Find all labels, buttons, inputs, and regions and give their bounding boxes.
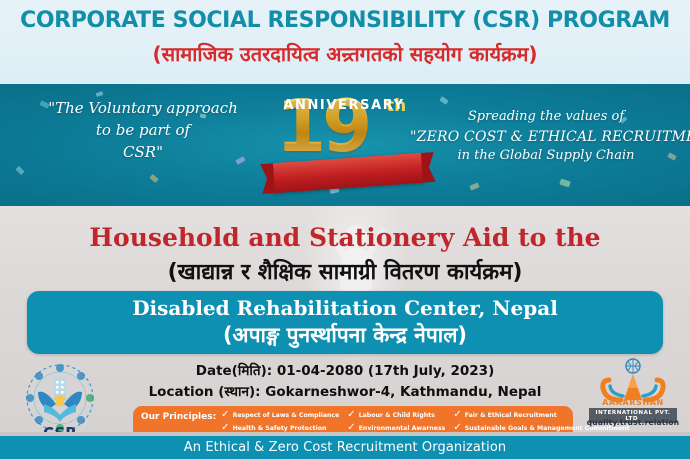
principles-label: Our Principles: [141, 410, 216, 422]
principle-item: ✓ Respect of Laws & Compliance [221, 410, 339, 420]
event-details: Date(मिति): 01-04-2080 (17th July, 2023)… [110, 361, 580, 403]
check-icon: ✓ [453, 410, 461, 420]
check-icon: ✓ [221, 410, 229, 420]
principle-label: Sustainable Goals & Management Commitmen… [465, 425, 630, 432]
hero-quote-left-line2: to be part of [18, 120, 268, 142]
program-heading-nepali: (खाद्यान्न र शैक्षिक सामाग्री वितरण कार्… [0, 256, 690, 286]
principle-item: ✓ Fair & Ethical Recruitment [453, 410, 629, 420]
principle-label: Labour & Child Rights [359, 412, 435, 419]
aakarshan-company-name: AAKARSHAN [583, 398, 683, 407]
hero-quote-right: Spreading the values of "ZERO COST & ETH… [410, 108, 682, 166]
page-title-nepali: (सामाजिक उतरदायित्व अन्र्तगतको सहयोग कार… [0, 40, 690, 67]
principles-column: ✓ Fair & Ethical Recruitment ✓ Sustainab… [453, 410, 629, 433]
organization-name-english: Disabled Rehabilitation Center, Nepal [27, 296, 663, 320]
principle-label: Respect of Laws & Compliance [233, 412, 340, 419]
hero-quote-left-line1: "The Voluntary approach [18, 98, 268, 120]
principle-label: Fair & Ethical Recruitment [465, 412, 557, 419]
confetti-piece [559, 179, 570, 188]
principles-column: ✓ Respect of Laws & Compliance ✓ Health … [221, 410, 339, 433]
footer-text: An Ethical & Zero Cost Recruitment Organ… [184, 440, 506, 455]
confetti-piece [149, 174, 158, 183]
confetti-piece [469, 182, 479, 190]
program-heading-english: Household and Stationery Aid to the [0, 223, 690, 252]
confetti-piece [439, 96, 448, 105]
csr-logo-graphic: CSR [18, 360, 102, 440]
confetti-piece [15, 166, 24, 175]
csr-program-poster: CORPORATE SOCIAL RESPONSIBILITY (CSR) PR… [0, 0, 690, 459]
anniversary-ribbon-label: ANNIVERSARY [268, 90, 420, 120]
event-location: Location (स्थान): Gokarneshwor-4, Kathma… [110, 382, 580, 403]
csr-logo: CSR [18, 360, 102, 440]
event-date: Date(मिति): 01-04-2080 (17th July, 2023) [110, 361, 580, 382]
header-band: CORPORATE SOCIAL RESPONSIBILITY (CSR) PR… [0, 0, 690, 84]
page-title-english: CORPORATE SOCIAL RESPONSIBILITY (CSR) PR… [0, 8, 690, 33]
principles-column: ✓ Labour & Child Rights ✓ Environmental … [347, 410, 445, 433]
footer-bar: An Ethical & Zero Cost Recruitment Organ… [0, 436, 690, 459]
organization-name-nepali: (अपाङ्ग पुनर्स्थापना केन्द्र नेपाल) [27, 321, 663, 349]
principles-columns: ✓ Respect of Laws & Compliance ✓ Health … [221, 410, 637, 433]
principle-label: Environmental Awarness [359, 425, 446, 432]
hero-quote-right-line3: in the Global Supply Chain [410, 147, 682, 166]
principle-label: Health & Safety Protection [233, 425, 327, 432]
check-icon: ✓ [347, 410, 355, 420]
hero-quote-right-line1: Spreading the values of [410, 108, 682, 127]
hero-quote-left-line3: CSR" [18, 142, 268, 164]
aakarshan-logo-graphic [583, 358, 683, 403]
organization-box: Disabled Rehabilitation Center, Nepal (अ… [27, 291, 663, 354]
confetti-piece [96, 91, 104, 97]
anniversary-logo: 19 th ANNIVERSARY [268, 90, 428, 202]
hero-quote-right-line2: "ZERO COST & ETHICAL RECRUITMENT" [410, 127, 682, 147]
hero-quote-left: "The Voluntary approach to be part of CS… [18, 98, 268, 163]
principle-item: ✓ Labour & Child Rights [347, 410, 445, 420]
